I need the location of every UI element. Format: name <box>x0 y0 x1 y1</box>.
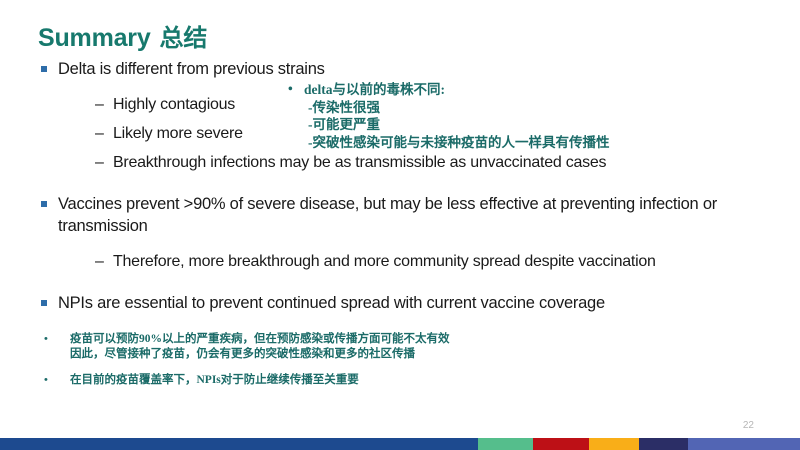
bullet-item-level2: – Therefore, more breakthrough and more … <box>0 251 740 273</box>
annotation-sub-line: -突破性感染可能与未接种疫苗的人一样具有传播性 <box>286 134 610 152</box>
annotation-bottom-item: • 疫苗可以预防90%以上的严重疾病，但在预防感染或传播方面可能不太有效 因此，… <box>40 332 450 361</box>
annotation-bottom-line: 因此，尽管接种了疫苗，仍会有更多的突破性感染和更多的社区传播 <box>70 347 450 362</box>
dash-bullet-icon: – <box>95 152 104 174</box>
bullet-text: Likely more severe <box>113 125 243 142</box>
square-bullet-icon <box>41 201 47 207</box>
footer-segment-periwinkle <box>688 438 800 450</box>
bullet-item-level1: NPIs are essential to prevent continued … <box>0 292 740 314</box>
footer-segment-green <box>478 438 533 450</box>
bullet-item-level1: Delta is different from previous strains <box>0 58 740 80</box>
dash-bullet-icon: – <box>95 123 104 145</box>
annotation-bottom-line: 疫苗可以预防90%以上的严重疾病，但在预防感染或传播方面可能不太有效 <box>70 332 450 347</box>
dot-bullet-icon: • <box>44 373 48 388</box>
square-bullet-icon <box>41 66 47 72</box>
footer-color-bar <box>0 438 800 450</box>
dash-bullet-icon: – <box>95 251 104 273</box>
bullet-text: Highly contagious <box>113 96 235 113</box>
annotation-sub-line: -传染性很强 <box>286 99 610 117</box>
bullet-text: Vaccines prevent >90% of severe disease,… <box>58 195 717 235</box>
annotation-heading-line: • delta与以前的毒株不同: <box>286 81 610 99</box>
annotation-heading-text: delta与以前的毒株不同: <box>304 82 445 97</box>
square-bullet-icon <box>41 300 47 306</box>
annotation-sub-line: -可能更严重 <box>286 116 610 134</box>
page-title-chinese: 总结 <box>160 25 208 52</box>
dot-bullet-icon: • <box>288 80 293 98</box>
dot-bullet-icon: • <box>44 332 48 347</box>
chinese-annotation-top: • delta与以前的毒株不同: -传染性很强 -可能更严重 -突破性感染可能与… <box>286 81 610 151</box>
bullet-text: Breakthrough infections may be as transm… <box>113 154 606 171</box>
footer-segment-red <box>533 438 589 450</box>
bullet-text: Therefore, more breakthrough and more co… <box>113 253 656 270</box>
footer-segment-blue <box>0 438 478 450</box>
presentation-slide: Summary总结 Delta is different from previo… <box>0 0 800 450</box>
annotation-bottom-line: 在目前的疫苗覆盖率下，NPIs对于防止继续传播至关重要 <box>70 373 450 388</box>
page-title-english: Summary <box>38 24 151 52</box>
bullet-item-level1: Vaccines prevent >90% of severe disease,… <box>0 193 740 237</box>
dash-bullet-icon: – <box>95 94 104 116</box>
bullet-text: Delta is different from previous strains <box>58 60 325 78</box>
bullet-item-level2: – Breakthrough infections may be as tran… <box>0 152 740 174</box>
footer-segment-navy <box>639 438 688 450</box>
page-title: Summary总结 <box>38 18 207 53</box>
footer-segment-orange <box>589 438 639 450</box>
bullet-text: NPIs are essential to prevent continued … <box>58 294 605 312</box>
chinese-annotation-bottom: • 疫苗可以预防90%以上的严重疾病，但在预防感染或传播方面可能不太有效 因此，… <box>40 332 450 400</box>
annotation-bottom-item: • 在目前的疫苗覆盖率下，NPIs对于防止继续传播至关重要 <box>40 373 450 388</box>
page-number: 22 <box>743 420 754 431</box>
